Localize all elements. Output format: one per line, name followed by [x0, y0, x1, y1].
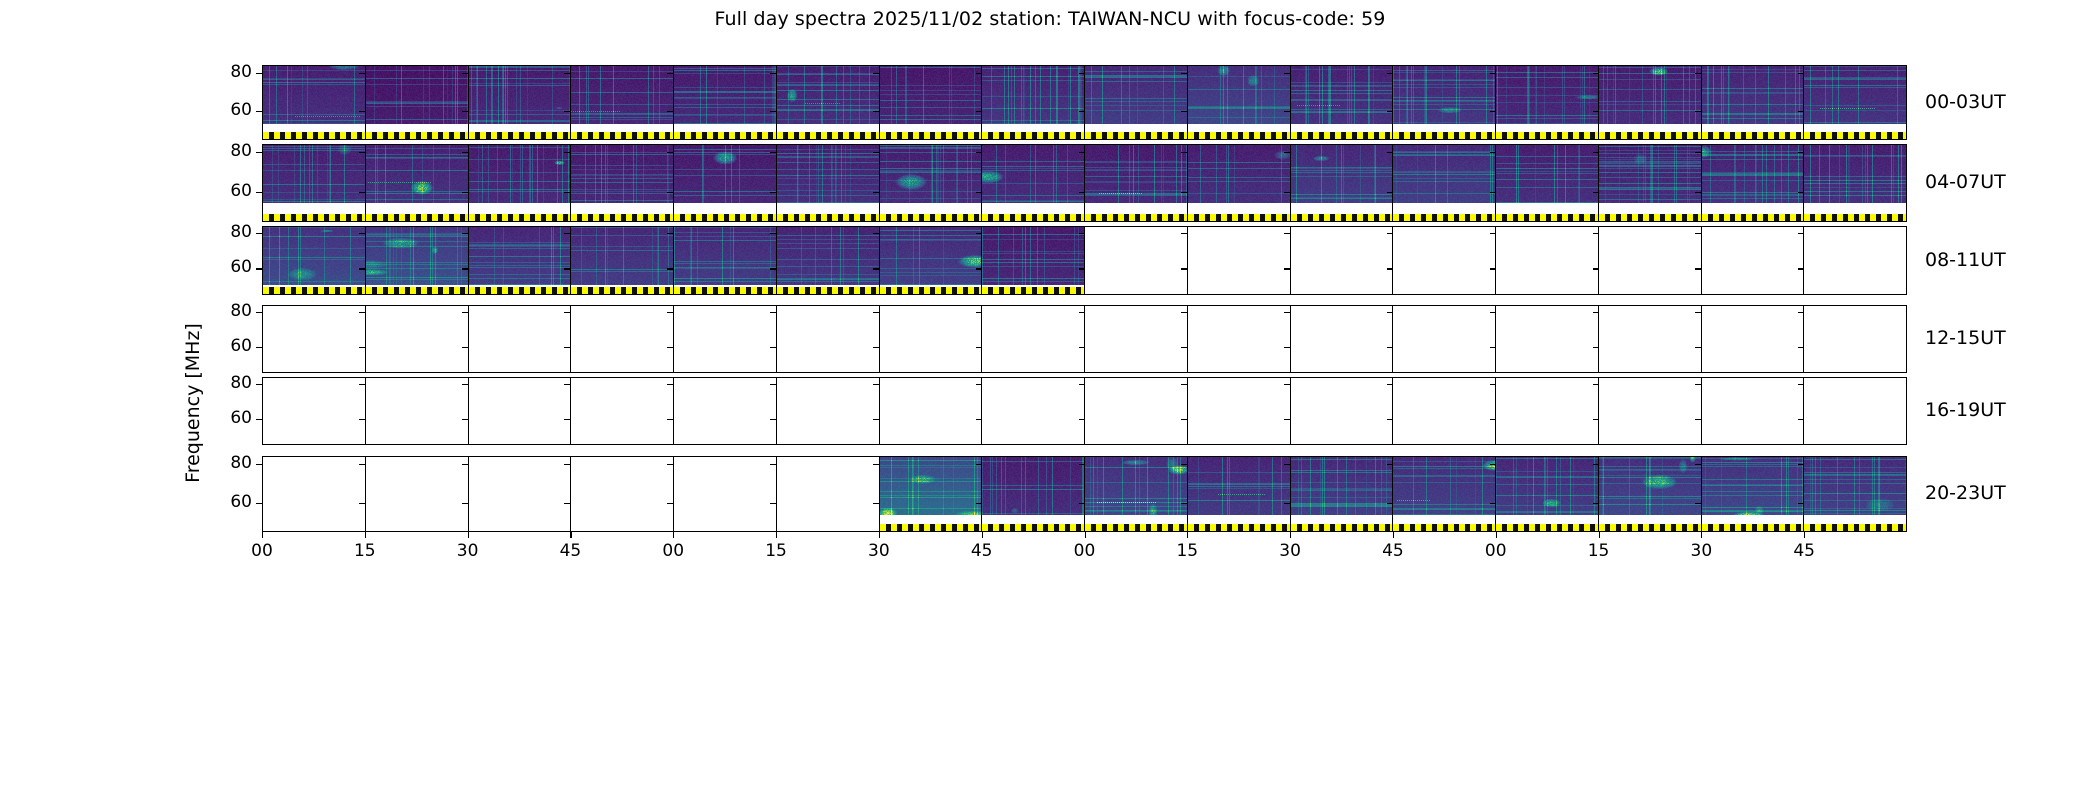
- y-tick-mark-inner: [976, 111, 982, 112]
- axes-frame: [262, 305, 1907, 373]
- y-tick-mark-inner: [1695, 268, 1701, 269]
- y-tick-mark-inner: [1181, 464, 1187, 465]
- y-tick-mark-inner: [770, 233, 776, 234]
- y-tick-mark-inner: [1798, 312, 1804, 313]
- spectrogram-image: [1393, 457, 1496, 515]
- spectrogram-image: [777, 227, 880, 285]
- x-tick-label: 30: [1270, 541, 1310, 561]
- y-tick-mark-inner: [667, 503, 673, 504]
- y-tick-mark-inner: [462, 464, 468, 465]
- spectrogram-panel: [982, 145, 1085, 221]
- y-tick-mark-inner: [770, 347, 776, 348]
- y-tick-mark-inner: [1490, 73, 1496, 74]
- y-tick-mark-inner: [667, 347, 673, 348]
- data-presence-marker-strip: [1599, 524, 1701, 531]
- y-tick-mark: [256, 464, 262, 465]
- y-tick-mark-inner: [1079, 152, 1085, 153]
- spectrogram-panel: [1291, 457, 1394, 531]
- spectrogram-panel-empty: [1393, 227, 1496, 294]
- x-tick-label: 15: [756, 541, 796, 561]
- y-tick-mark-inner: [1181, 312, 1187, 313]
- y-tick-mark-inner: [770, 312, 776, 313]
- panel-strip: [263, 457, 1906, 531]
- y-tick-mark-inner: [1181, 73, 1187, 74]
- spectrogram-panel: [571, 145, 674, 221]
- y-tick-mark-inner: [976, 73, 982, 74]
- x-tick-mark: [570, 532, 571, 538]
- y-tick-mark-inner: [1079, 464, 1085, 465]
- data-presence-marker-strip: [1599, 214, 1701, 221]
- data-presence-marker-strip: [263, 132, 365, 139]
- spectrogram-panel-empty: [1599, 378, 1702, 444]
- y-tick-mark-inner: [770, 152, 776, 153]
- y-tick-mark-inner: [770, 73, 776, 74]
- data-presence-marker-strip: [982, 287, 1084, 294]
- spectrogram-panel-empty: [674, 306, 777, 372]
- y-tick-mark-inner: [770, 419, 776, 420]
- x-tick-mark: [1701, 532, 1702, 538]
- y-tick-mark-inner: [873, 233, 879, 234]
- y-tick-mark-inner: [1695, 384, 1701, 385]
- spectrogram-image: [469, 145, 572, 203]
- y-tick-mark-inner: [1490, 464, 1496, 465]
- y-tick-mark-inner: [1593, 73, 1599, 74]
- y-tick-mark-inner: [462, 312, 468, 313]
- y-tick-mark-inner: [1079, 268, 1085, 269]
- data-presence-marker-strip: [366, 132, 468, 139]
- x-tick-label: 45: [550, 541, 590, 561]
- spectrogram-panel: [674, 66, 777, 139]
- data-presence-marker-strip: [1393, 132, 1495, 139]
- y-tick-mark-inner: [1490, 111, 1496, 112]
- y-tick-mark-inner: [1284, 111, 1290, 112]
- y-tick-mark-inner: [359, 384, 365, 385]
- spectrogram-image: [982, 227, 1085, 285]
- spectrogram-panel-empty: [571, 457, 674, 531]
- y-tick-mark-inner: [976, 192, 982, 193]
- y-tick-mark-inner: [462, 419, 468, 420]
- y-tick-mark-inner: [1079, 503, 1085, 504]
- x-tick-mark: [468, 532, 469, 538]
- spectrogram-panel-empty: [263, 457, 366, 531]
- y-tick-mark-inner: [1387, 268, 1393, 269]
- y-tick-mark-inner: [1284, 464, 1290, 465]
- spectrogram-image: [982, 145, 1085, 203]
- spectrogram-panel-empty: [469, 306, 572, 372]
- y-tick-mark-inner: [359, 312, 365, 313]
- spectrogram-panel: [263, 66, 366, 139]
- spectrogram-panel-empty: [1804, 378, 1906, 444]
- y-tick-mark-inner: [873, 464, 879, 465]
- spectrogram-panel-empty: [1188, 306, 1291, 372]
- y-tick-mark-inner: [1798, 73, 1804, 74]
- y-tick-mark-inner: [1593, 152, 1599, 153]
- y-tick-mark: [256, 384, 262, 385]
- row-label-16-19ut: 16-19UT: [1925, 399, 2006, 421]
- y-tick-mark-inner: [1798, 152, 1804, 153]
- spectrogram-panel: [1188, 145, 1291, 221]
- data-presence-marker-strip: [469, 132, 571, 139]
- x-tick-mark: [262, 532, 263, 538]
- y-tick-mark-inner: [1593, 312, 1599, 313]
- y-tick-mark-inner: [976, 268, 982, 269]
- data-presence-marker-strip: [1291, 524, 1393, 531]
- y-tick-mark-inner: [1284, 152, 1290, 153]
- y-tick-mark-inner: [873, 503, 879, 504]
- x-tick-label: 00: [1065, 541, 1105, 561]
- spectrogram-figure: Full day spectra 2025/11/02 station: TAI…: [0, 0, 2100, 800]
- spectrogram-panel: [1599, 66, 1702, 139]
- y-tick-mark-inner: [462, 233, 468, 234]
- y-tick-mark-inner: [1490, 503, 1496, 504]
- y-tick-mark-inner: [1181, 268, 1187, 269]
- y-tick-mark-inner: [359, 268, 365, 269]
- spectrogram-panel: [1188, 457, 1291, 531]
- data-presence-marker-strip: [1291, 214, 1393, 221]
- spectrogram-panel: [469, 145, 572, 221]
- spectrogram-panel: [1393, 66, 1496, 139]
- spectrogram-panel: [1702, 457, 1805, 531]
- y-tick-mark-inner: [1079, 73, 1085, 74]
- data-presence-marker-strip: [1702, 214, 1804, 221]
- y-tick-mark-inner: [1798, 419, 1804, 420]
- y-tick-mark-inner: [976, 312, 982, 313]
- y-tick-mark-inner: [1798, 192, 1804, 193]
- y-tick-mark-inner: [1284, 384, 1290, 385]
- y-tick-mark-inner: [1387, 384, 1393, 385]
- spectrogram-image: [263, 145, 366, 203]
- y-tick-mark: [256, 152, 262, 153]
- y-tick-mark-inner: [1387, 312, 1393, 313]
- data-presence-marker-strip: [263, 214, 365, 221]
- spectrogram-image: [1496, 145, 1599, 203]
- spectrogram-image: [880, 227, 983, 285]
- y-tick-mark-inner: [1079, 233, 1085, 234]
- y-tick-mark-inner: [462, 384, 468, 385]
- spectrogram-image: [469, 227, 572, 285]
- y-tick-mark-inner: [1695, 464, 1701, 465]
- spectrogram-panel: [571, 227, 674, 294]
- y-tick-mark-inner: [564, 347, 570, 348]
- y-tick-mark-inner: [1490, 347, 1496, 348]
- y-tick-mark-inner: [1798, 503, 1804, 504]
- spectrogram-panel-empty: [880, 306, 983, 372]
- spectrogram-panel: [1496, 66, 1599, 139]
- spectrogram-panel-empty: [777, 306, 880, 372]
- spectrogram-panel: [1599, 457, 1702, 531]
- spectrogram-panel: [880, 457, 983, 531]
- spectrogram-panel-empty: [366, 306, 469, 372]
- spectrogram-panel-empty: [674, 378, 777, 444]
- page-title: Full day spectra 2025/11/02 station: TAI…: [0, 8, 2100, 30]
- data-presence-marker-strip: [880, 287, 982, 294]
- spectrogram-image: [880, 457, 983, 515]
- spectrogram-panel: [1804, 457, 1906, 531]
- spectrogram-image: [571, 66, 674, 124]
- row-label-12-15ut: 12-15UT: [1925, 327, 2006, 349]
- y-tick-mark-inner: [1490, 152, 1496, 153]
- y-tick-mark-inner: [667, 73, 673, 74]
- panel-strip: [263, 378, 1906, 444]
- spectrogram-row-00-03ut: [262, 65, 1907, 140]
- spectrogram-image: [982, 66, 1085, 124]
- x-tick-label: 30: [859, 541, 899, 561]
- spectrogram-image: [1188, 66, 1291, 124]
- spectrogram-image: [674, 145, 777, 203]
- y-tick-mark-inner: [667, 312, 673, 313]
- spectrogram-panel: [1496, 145, 1599, 221]
- y-tick-mark-inner: [1593, 192, 1599, 193]
- y-tick-label: 60: [206, 257, 252, 277]
- y-tick-mark-inner: [873, 111, 879, 112]
- x-tick-label: 45: [1373, 541, 1413, 561]
- data-presence-marker-strip: [469, 287, 571, 294]
- y-tick-mark-inner: [873, 312, 879, 313]
- y-tick-mark-inner: [873, 347, 879, 348]
- y-tick-mark-inner: [1490, 384, 1496, 385]
- spectrogram-panel-empty: [1085, 378, 1188, 444]
- spectrogram-panel-empty: [1085, 306, 1188, 372]
- y-tick-mark-inner: [1695, 233, 1701, 234]
- y-tick-mark-inner: [1387, 419, 1393, 420]
- spectrogram-panel: [1085, 145, 1188, 221]
- y-tick-mark-inner: [1695, 419, 1701, 420]
- x-tick-mark: [365, 532, 366, 538]
- y-tick-mark-inner: [564, 464, 570, 465]
- axes-frame: [262, 144, 1907, 222]
- spectrogram-panel-empty: [571, 378, 674, 444]
- y-tick-mark-inner: [1695, 312, 1701, 313]
- y-tick-mark-inner: [1490, 192, 1496, 193]
- data-presence-marker-strip: [1702, 524, 1804, 531]
- x-tick-mark: [776, 532, 777, 538]
- y-tick-mark: [256, 503, 262, 504]
- spectrogram-panel-empty: [1188, 378, 1291, 444]
- row-label-08-11ut: 08-11UT: [1925, 249, 2006, 271]
- panel-strip: [263, 306, 1906, 372]
- spectrogram-image: [1291, 457, 1394, 515]
- spectrogram-panel-empty: [1393, 378, 1496, 444]
- spectrogram-panel-empty: [1496, 306, 1599, 372]
- y-tick-mark-inner: [1593, 503, 1599, 504]
- y-tick-mark-inner: [1798, 384, 1804, 385]
- y-tick-label: 80: [206, 62, 252, 82]
- spectrogram-image: [674, 227, 777, 285]
- spectrogram-image: [263, 227, 366, 285]
- y-tick-mark-inner: [1387, 152, 1393, 153]
- spectrogram-image: [777, 145, 880, 203]
- y-tick-label: 60: [206, 492, 252, 512]
- spectrogram-image: [982, 457, 1085, 515]
- y-tick-mark-inner: [1593, 384, 1599, 385]
- spectrogram-panel: [1085, 66, 1188, 139]
- y-tick-mark-inner: [462, 347, 468, 348]
- y-tick-mark-inner: [462, 503, 468, 504]
- spectrogram-panel-empty: [469, 378, 572, 444]
- y-tick-mark-inner: [564, 233, 570, 234]
- y-tick-mark-inner: [1798, 233, 1804, 234]
- data-presence-marker-strip: [366, 287, 468, 294]
- y-tick-mark-inner: [1284, 312, 1290, 313]
- x-tick-mark: [1290, 532, 1291, 538]
- spectrogram-panel: [366, 145, 469, 221]
- y-tick-label: 80: [206, 453, 252, 473]
- y-tick-mark-inner: [1079, 347, 1085, 348]
- y-tick-mark-inner: [1490, 419, 1496, 420]
- x-tick-label: 30: [448, 541, 488, 561]
- data-presence-marker-strip: [1804, 132, 1906, 139]
- axes-frame: [262, 456, 1907, 532]
- y-tick-label: 60: [206, 336, 252, 356]
- data-presence-marker-strip: [1188, 524, 1290, 531]
- y-tick-mark-inner: [564, 503, 570, 504]
- y-tick-mark: [256, 347, 262, 348]
- spectrogram-panel: [1393, 457, 1496, 531]
- spectrogram-panel: [777, 66, 880, 139]
- row-label-20-23ut: 20-23UT: [1925, 482, 2006, 504]
- axes-frame: [262, 226, 1907, 295]
- spectrogram-panel: [1393, 145, 1496, 221]
- y-tick-mark-inner: [667, 233, 673, 234]
- data-presence-marker-strip: [469, 214, 571, 221]
- y-tick-mark-inner: [1593, 347, 1599, 348]
- spectrogram-panel-empty: [469, 457, 572, 531]
- spectrogram-panel: [880, 66, 983, 139]
- y-tick-mark-inner: [462, 111, 468, 112]
- y-tick-mark-inner: [1593, 111, 1599, 112]
- spectrogram-panel: [1085, 457, 1188, 531]
- spectrogram-panel: [1496, 457, 1599, 531]
- spectrogram-panel-empty: [1599, 306, 1702, 372]
- spectrogram-row-04-07ut: [262, 144, 1907, 222]
- data-presence-marker-strip: [1085, 132, 1187, 139]
- spectrogram-image: [1188, 145, 1291, 203]
- spectrogram-panel: [674, 227, 777, 294]
- y-tick-mark-inner: [564, 268, 570, 269]
- spectrogram-panel: [1804, 66, 1906, 139]
- y-tick-mark-inner: [1490, 312, 1496, 313]
- data-presence-marker-strip: [1804, 524, 1906, 531]
- spectrogram-row-20-23ut: [262, 456, 1907, 532]
- spectrogram-panel-empty: [1496, 227, 1599, 294]
- spectrogram-panel: [1291, 145, 1394, 221]
- y-tick-label: 80: [206, 373, 252, 393]
- y-tick-mark: [256, 73, 262, 74]
- y-tick-mark-inner: [1079, 111, 1085, 112]
- spectrogram-image: [1188, 457, 1291, 515]
- data-presence-marker-strip: [1188, 214, 1290, 221]
- spectrogram-image: [366, 66, 469, 124]
- y-axis-label: Frequency [MHz]: [182, 392, 204, 414]
- y-tick-mark-inner: [1695, 192, 1701, 193]
- y-tick-mark-inner: [1387, 503, 1393, 504]
- y-tick-mark-inner: [667, 192, 673, 193]
- y-tick-mark-inner: [1695, 73, 1701, 74]
- y-tick-mark-inner: [1181, 192, 1187, 193]
- y-tick-mark-inner: [873, 384, 879, 385]
- y-tick-mark-inner: [667, 464, 673, 465]
- y-tick-mark-inner: [1387, 192, 1393, 193]
- x-tick-mark: [1804, 532, 1805, 538]
- data-presence-marker-strip: [571, 287, 673, 294]
- y-tick-mark-inner: [564, 312, 570, 313]
- y-tick-mark-inner: [1181, 419, 1187, 420]
- spectrogram-image: [366, 227, 469, 285]
- data-presence-marker-strip: [880, 214, 982, 221]
- spectrogram-panel-empty: [571, 306, 674, 372]
- x-tick-label: 15: [1167, 541, 1207, 561]
- data-presence-marker-strip: [880, 524, 982, 531]
- spectrogram-panel: [982, 66, 1085, 139]
- data-presence-marker-strip: [571, 214, 673, 221]
- spectrogram-image: [571, 145, 674, 203]
- x-tick-label: 45: [1784, 541, 1824, 561]
- spectrogram-panel: [1702, 66, 1805, 139]
- data-presence-marker-strip: [1393, 524, 1495, 531]
- axes-frame: [262, 65, 1907, 140]
- y-tick-mark: [256, 312, 262, 313]
- spectrogram-panel-empty: [366, 457, 469, 531]
- spectrogram-image: [1291, 66, 1394, 124]
- data-presence-marker-strip: [1188, 132, 1290, 139]
- spectrogram-panel: [366, 227, 469, 294]
- spectrogram-panel: [674, 145, 777, 221]
- y-tick-mark-inner: [976, 152, 982, 153]
- y-tick-mark-inner: [1181, 111, 1187, 112]
- y-tick-mark-inner: [359, 73, 365, 74]
- spectrogram-image: [777, 66, 880, 124]
- data-presence-marker-strip: [1496, 524, 1598, 531]
- data-presence-marker-strip: [982, 214, 1084, 221]
- y-tick-mark-inner: [462, 73, 468, 74]
- spectrogram-image: [1393, 145, 1496, 203]
- spectrogram-image: [1085, 145, 1188, 203]
- spectrogram-image: [1291, 145, 1394, 203]
- spectrogram-image: [1393, 66, 1496, 124]
- data-presence-marker-strip: [674, 132, 776, 139]
- y-tick-mark: [256, 233, 262, 234]
- data-presence-marker-strip: [1393, 214, 1495, 221]
- data-presence-marker-strip: [880, 132, 982, 139]
- spectrogram-panel: [1702, 145, 1805, 221]
- y-tick-mark-inner: [564, 419, 570, 420]
- y-tick-label: 80: [206, 141, 252, 161]
- spectrogram-panel-empty: [982, 378, 1085, 444]
- spectrogram-panel-empty: [1393, 306, 1496, 372]
- spectrogram-image: [1085, 66, 1188, 124]
- y-tick-mark-inner: [564, 152, 570, 153]
- spectrogram-image: [469, 66, 572, 124]
- y-tick-mark-inner: [1079, 312, 1085, 313]
- y-tick-mark-inner: [1079, 192, 1085, 193]
- spectrogram-panel-empty: [777, 457, 880, 531]
- x-tick-label: 00: [242, 541, 282, 561]
- y-tick-mark-inner: [1284, 419, 1290, 420]
- spectrogram-image: [1804, 145, 1906, 203]
- x-tick-mark: [1085, 532, 1086, 538]
- y-tick-mark-inner: [359, 233, 365, 234]
- y-tick-mark-inner: [462, 152, 468, 153]
- spectrogram-image: [1085, 457, 1188, 515]
- y-tick-mark-inner: [873, 73, 879, 74]
- y-tick-mark-inner: [770, 268, 776, 269]
- x-tick-label: 15: [345, 541, 385, 561]
- spectrogram-panel: [880, 227, 983, 294]
- y-tick-mark-inner: [1593, 233, 1599, 234]
- spectrogram-image: [571, 227, 674, 285]
- spectrogram-panel: [982, 457, 1085, 531]
- y-tick-mark-inner: [1181, 384, 1187, 385]
